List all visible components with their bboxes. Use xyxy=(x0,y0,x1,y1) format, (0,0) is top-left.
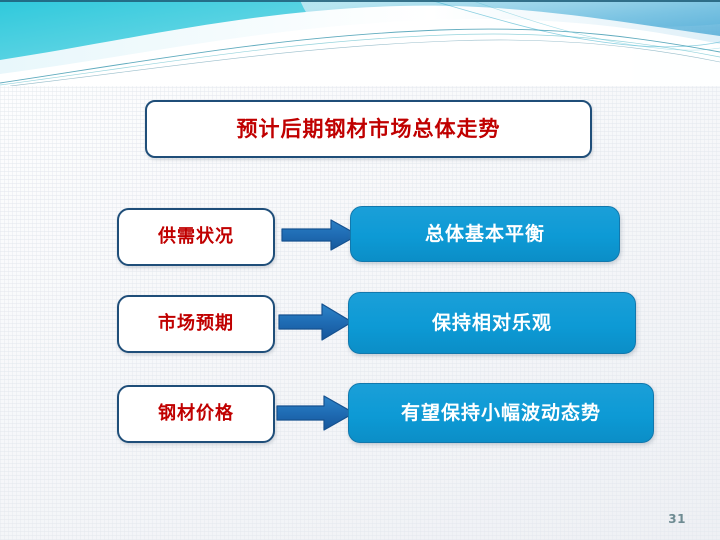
flow-target-label-1: 总体基本平衡 xyxy=(425,225,545,244)
header-top-rule xyxy=(0,0,720,2)
flow-row-2: 市场预期 保持相对乐观 xyxy=(0,291,720,361)
flow-source-box-3[interactable]: 钢材价格 xyxy=(117,385,275,443)
slide-title-text: 预计后期钢材市场总体走势 xyxy=(237,119,501,140)
flow-source-box-2[interactable]: 市场预期 xyxy=(117,295,275,353)
flow-target-label-3: 有望保持小幅波动态势 xyxy=(401,404,601,423)
flow-target-box-1[interactable]: 总体基本平衡 xyxy=(350,206,620,262)
arrow-right-icon xyxy=(276,394,356,432)
arrow-right-icon xyxy=(278,302,354,342)
flow-target-label-2: 保持相对乐观 xyxy=(432,314,552,333)
arrow-right-icon xyxy=(281,218,360,252)
flow-row-3: 钢材价格 有望保持小幅波动态势 xyxy=(0,381,720,451)
flow-row-1: 供需状况 总体基本平衡 xyxy=(0,204,720,274)
flow-source-label-1: 供需状况 xyxy=(158,228,234,246)
page-number: 31 xyxy=(668,512,686,526)
flow-source-label-2: 市场预期 xyxy=(158,315,234,333)
header-wave-decoration xyxy=(0,0,720,86)
slide-title-box: 预计后期钢材市场总体走势 xyxy=(145,100,592,158)
slide-canvas: 预计后期钢材市场总体走势 供需状况 总体基本平衡 xyxy=(0,0,720,540)
flow-target-box-3[interactable]: 有望保持小幅波动态势 xyxy=(348,383,654,443)
flow-source-label-3: 钢材价格 xyxy=(158,405,234,423)
flow-target-box-2[interactable]: 保持相对乐观 xyxy=(348,292,636,354)
flow-source-box-1[interactable]: 供需状况 xyxy=(117,208,275,266)
